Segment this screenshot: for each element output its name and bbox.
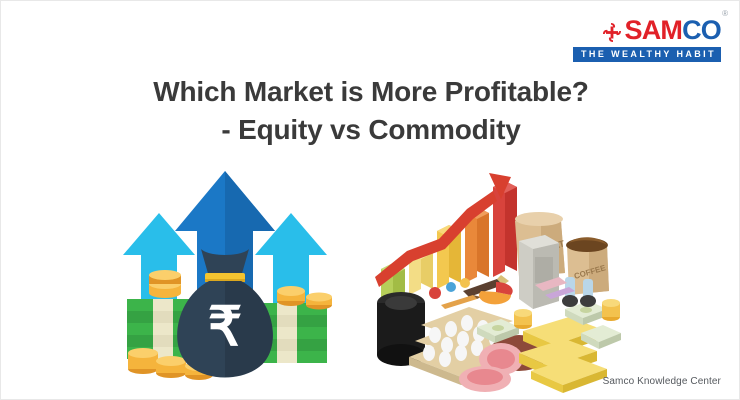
logo-text-sam: SAM — [624, 17, 682, 44]
page-title-line-1: Which Market is More Profitable? — [1, 73, 740, 111]
samco-swirl-mark — [602, 22, 622, 43]
coin-stack-left-upper — [149, 270, 181, 298]
footer-credit: Samco Knowledge Center — [603, 376, 721, 387]
page-title-line-2: - Equity vs Commodity — [1, 111, 740, 149]
commodity-artwork: WHEAT COFFEE — [369, 157, 625, 393]
rupee-symbol: ₹ — [208, 297, 242, 357]
commodity-basket-illustration: WHEAT COFFEE — [369, 157, 625, 393]
registered-trademark-icon: ® — [722, 10, 728, 18]
money-bag: ₹ — [177, 249, 273, 378]
misc-commodity-props — [429, 275, 596, 309]
logo-wordmark: SAMCO ® — [573, 17, 721, 44]
equity-artwork: ₹ — [113, 153, 337, 389]
logo-text-co: CO — [682, 17, 721, 44]
banner-root: SAMCO ® THE WEALTHY HABIT Which Market i… — [0, 0, 740, 400]
samco-logo[interactable]: SAMCO ® THE WEALTHY HABIT — [573, 17, 721, 62]
page-title: Which Market is More Profitable? - Equit… — [1, 73, 740, 149]
equity-growth-illustration: ₹ — [113, 153, 337, 389]
logo-tagline: THE WEALTHY HABIT — [573, 47, 721, 62]
